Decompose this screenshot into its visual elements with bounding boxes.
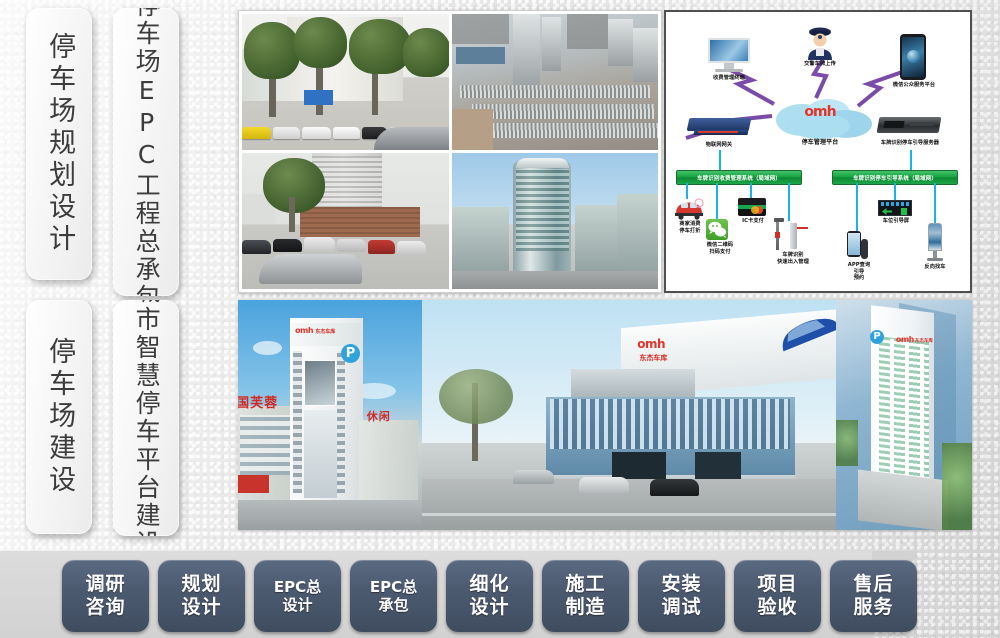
photo-aerial-view-parking-district — [452, 14, 659, 150]
label-traffic-police-plate-upload: 交警车牌上传 — [784, 61, 856, 68]
label-wechat-public-service-platform: 微信公众服务平台 — [876, 82, 952, 89]
connector-line-guide-3 — [934, 183, 936, 223]
rendering-brand-cn: 东杰车库 — [915, 338, 933, 344]
rack-server-icon — [878, 115, 940, 137]
process-step-epc-overall-design[interactable]: EPC总 设计 — [254, 560, 341, 632]
photo-surface-parking-with-trees — [242, 14, 449, 150]
subsystem-title-label: 车牌识别停车引导系统（局域网） — [853, 174, 937, 182]
sidebar-card-parking-lot-epc-general-contracting[interactable]: 停车场EPC工程总承包 — [113, 8, 179, 296]
barrier-gate-icon — [774, 218, 808, 252]
rendering-p-badge: P — [870, 330, 884, 344]
sidebar-card-label: 停车场规划设计 — [45, 32, 73, 256]
photo-grid — [238, 10, 662, 293]
wechat-icon — [706, 219, 728, 240]
connector-line-fee-2 — [716, 183, 718, 219]
architectural-renderings-strip: 国芙蓉 omh 东杰车库 P 休闲 omh 东杰车库 — [238, 300, 972, 530]
mobile-app-icon — [847, 231, 869, 261]
cloud-brand-omh: omh — [788, 104, 852, 120]
rendering-brand-cn: 东杰车库 — [315, 328, 335, 335]
label-parking-space-guidance-screen: 车位引导屏 — [872, 218, 920, 225]
red-car-icon — [674, 198, 704, 220]
connector-line-fee-4 — [788, 183, 790, 221]
label-iot-gateway: 物联网网关 — [689, 142, 749, 149]
sidebar-card-parking-lot-construction[interactable]: 停车场建设 — [26, 300, 92, 534]
led-display-icon — [878, 200, 912, 216]
subsystem-title-label: 车牌识别收费管理系统（局域网） — [697, 174, 781, 182]
subsystem-title-plate-recognition-fee-system: 车牌识别收费管理系统（局域网） — [676, 170, 802, 185]
process-step-epc-general-contracting[interactable]: EPC总 承包 — [350, 560, 437, 632]
label-merchant-parking-discount: 商家消费 停车打折 — [670, 221, 710, 234]
sidebar-card-parking-lot-planning-design[interactable]: 停车场规划设计 — [26, 8, 92, 280]
sidebar-card-label: 停车场EPC工程总承包 — [133, 8, 159, 296]
label-parking-management-platform: 停车管理平台 — [784, 139, 856, 147]
connector-line-right — [910, 150, 912, 170]
process-step-planning-design[interactable]: 规划 设计 — [158, 560, 245, 632]
smartphone-icon — [900, 34, 926, 80]
process-bar: 调研 咨询 规划 设计 EPC总 设计 EPC总 承包 细化 设计 施工 制造 … — [62, 560, 992, 632]
process-step-construction-manufacturing[interactable]: 施工 制造 — [542, 560, 629, 632]
process-step-research-consulting[interactable]: 调研 咨询 — [62, 560, 149, 632]
label-fee-management-terminal: 收费管理终端 — [696, 75, 762, 82]
network-gateway-icon — [688, 116, 750, 138]
sidebar-card-label: 停车场建设 — [45, 337, 73, 497]
label-ic-card-payment: IC卡支付 — [734, 218, 772, 225]
connector-line-left — [719, 150, 721, 170]
label-reverse-car-finding-kiosk: 反向找车 — [914, 264, 956, 271]
process-step-after-sales-service[interactable]: 售后 服务 — [830, 560, 917, 632]
rendering-brand-omh: omh — [896, 335, 914, 344]
rendering-brand-omh: omh — [637, 337, 665, 351]
rendering-garage-building: omh 东杰车库 — [422, 300, 836, 530]
process-step-project-acceptance[interactable]: 项目 验收 — [734, 560, 821, 632]
sidebar-card-label: 城市智慧停车平台建设 — [133, 300, 159, 536]
rendering-p-badge: P — [341, 344, 360, 363]
connector-line-guide-2 — [894, 183, 896, 201]
system-architecture-diagram: omh 停车管理平台 收费管理终端 交警车牌上传 — [664, 10, 972, 293]
rendering-street-tower: 国芙蓉 omh 东杰车库 P 休闲 — [238, 300, 422, 530]
credit-card-icon — [738, 198, 766, 216]
photo-parking-lot-brick-building — [242, 153, 449, 289]
rendering-brand-cn: 东杰车库 — [639, 353, 667, 363]
blue-car-graphic — [770, 309, 836, 355]
label-wechat-qr-payment: 微信二维码 扫码支付 — [696, 242, 744, 255]
connector-line-guide-1 — [856, 183, 858, 231]
desktop-monitor-icon — [706, 38, 752, 72]
process-step-detailed-design[interactable]: 细化 设计 — [446, 560, 533, 632]
connector-line-fee-3 — [750, 183, 752, 199]
rendering-sign-guofurong: 国芙蓉 — [238, 392, 278, 411]
kiosk-icon — [925, 223, 945, 261]
label-plate-recognition-guidance-server: 车牌识别停车引导服务器 — [866, 140, 954, 147]
sidebar-card-smart-city-parking-platform[interactable]: 城市智慧停车平台建设 — [113, 300, 179, 536]
process-step-installation-commissioning[interactable]: 安装 调试 — [638, 560, 725, 632]
police-officer-icon — [805, 26, 835, 60]
photo-office-tower-street-view — [452, 153, 659, 289]
rendering-brand-omh: omh — [295, 326, 313, 335]
label-app-query-guidance-booking: APP查询 引导 预约 — [838, 262, 880, 282]
connector-line-fee-1 — [686, 183, 688, 199]
label-plate-recognition-fast-entry: 车牌识别 快速出入管理 — [766, 252, 820, 265]
rendering-sign-xiuxian: 休闲 — [367, 408, 391, 424]
rendering-aerial-tower: P omh 东杰车库 — [836, 300, 972, 530]
